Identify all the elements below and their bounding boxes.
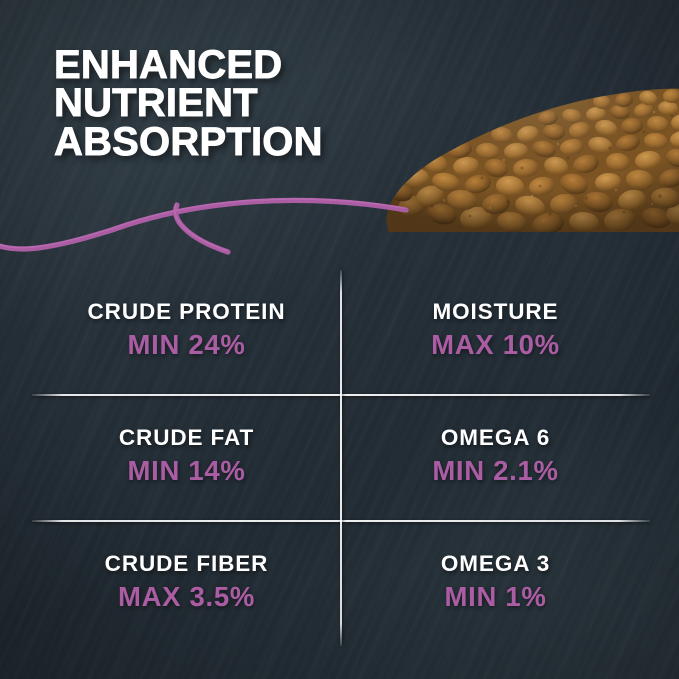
nutrient-value: MIN 2.1% [432,454,558,487]
nutrient-value: MIN 24% [128,328,246,361]
page-title: ENHANCED NUTRIENT ABSORPTION [54,46,434,161]
nutrient-label: CRUDE PROTEIN [88,299,286,326]
nutrient-cell-crude-protein: CRUDE PROTEIN MIN 24% [32,268,341,394]
nutrition-poster: ENHANCED NUTRIENT ABSORPTION CRUDE PROTE… [0,0,679,679]
nutrient-value: MAX 10% [431,328,560,361]
grid-divider-vertical [340,270,342,646]
nutrient-label: MOISTURE [433,299,559,326]
nutrient-value: MIN 14% [128,454,246,487]
nutrient-cell-omega-3: OMEGA 3 MIN 1% [341,520,650,646]
nutrient-label: OMEGA 3 [441,551,550,578]
nutrient-label: CRUDE FIBER [105,551,269,578]
nutrient-cell-moisture: MOISTURE MAX 10% [341,268,650,394]
nutrient-cell-crude-fiber: CRUDE FIBER MAX 3.5% [32,520,341,646]
page-title-line-3: ABSORPTION [54,123,434,161]
page-title-line-1: ENHANCED [54,46,434,84]
nutrient-label: OMEGA 6 [441,425,550,452]
nutrient-cell-omega-6: OMEGA 6 MIN 2.1% [341,394,650,520]
page-title-line-2: NUTRIENT [54,84,434,122]
nutrient-value: MIN 1% [445,580,547,613]
nutrient-cell-crude-fat: CRUDE FAT MIN 14% [32,394,341,520]
guaranteed-analysis-grid: CRUDE PROTEIN MIN 24% MOISTURE MAX 10% C… [32,268,650,648]
nutrient-value: MAX 3.5% [118,580,255,613]
nutrient-label: CRUDE FAT [119,425,254,452]
